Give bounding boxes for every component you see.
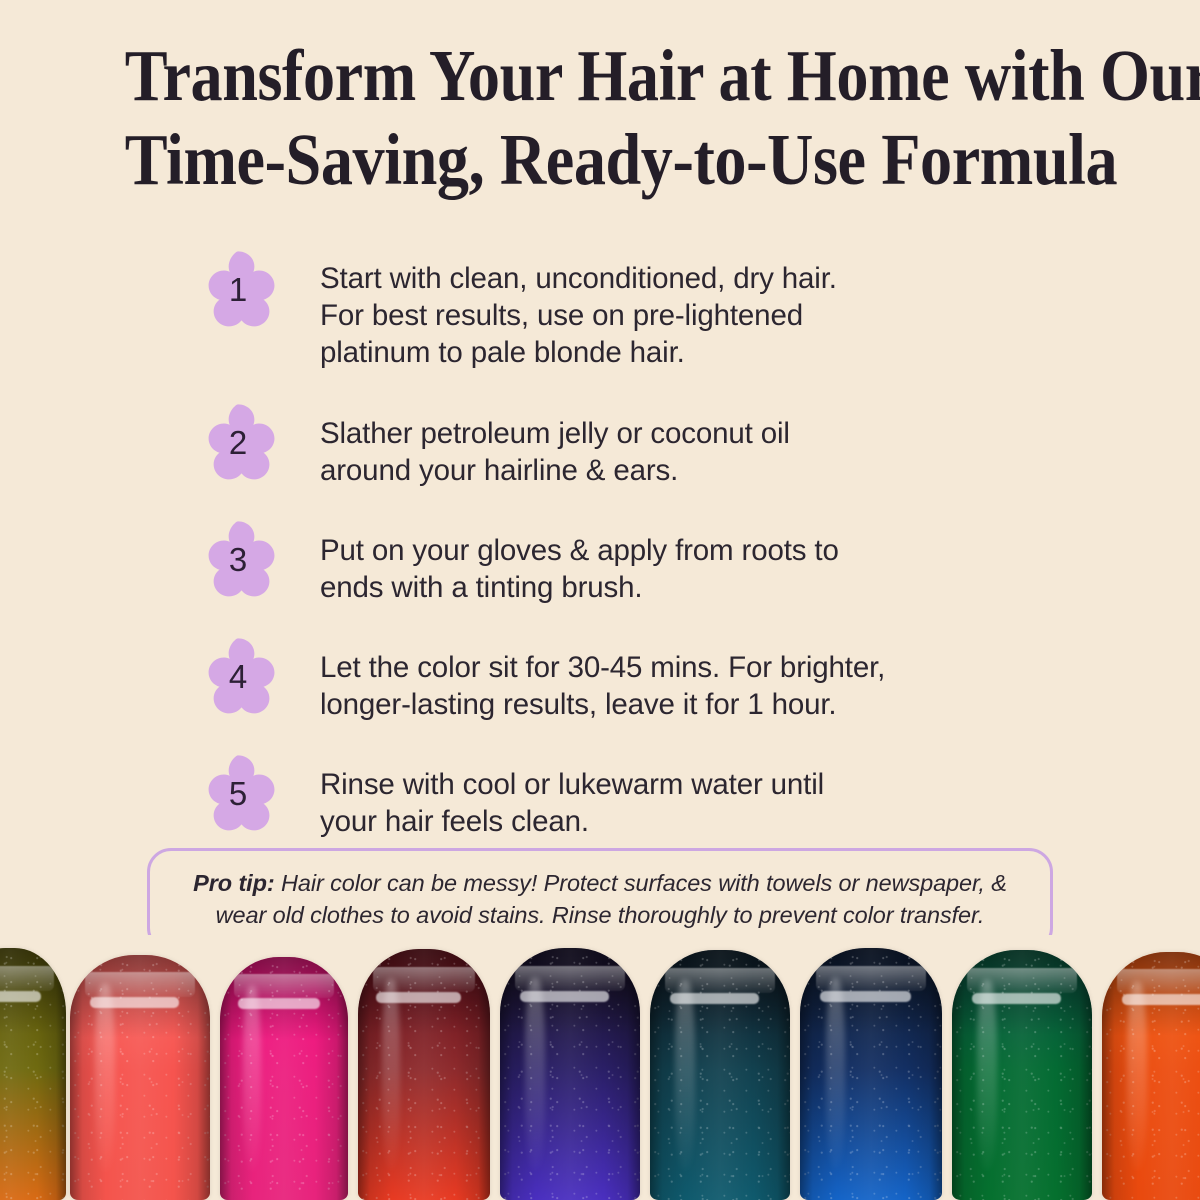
bottle-sheen <box>95 984 115 1170</box>
bottle-sheen <box>675 980 695 1170</box>
dark-red-bottle <box>358 949 490 1200</box>
bottle-cap <box>665 968 774 993</box>
bottle-cap2 <box>670 993 760 1004</box>
step-number-label: 4 <box>196 635 280 719</box>
bottle-sheen <box>977 980 997 1170</box>
bottle-cap <box>0 966 54 991</box>
violet-navy-bottle <box>500 948 640 1200</box>
bottle-cap2 <box>1122 994 1200 1005</box>
bottle-cap <box>515 966 624 991</box>
list-item: 2 Slather petroleum jelly or coconut oil… <box>196 401 1076 489</box>
bottle-cap2 <box>972 993 1062 1004</box>
list-item: 1 Start with clean, unconditioned, dry h… <box>196 248 1076 371</box>
step-text: Start with clean, unconditioned, dry hai… <box>320 248 1076 371</box>
step-number-badge-4: 4 <box>196 635 280 719</box>
steps-list: 1 Start with clean, unconditioned, dry h… <box>196 248 1076 840</box>
bottle-cap2 <box>90 997 180 1008</box>
page-title: Transform Your Hair at Home with Our Tim… <box>60 34 1140 202</box>
bottle-cap <box>1117 969 1200 994</box>
step-number-badge-1: 1 <box>196 248 280 332</box>
bottle-sheen <box>382 979 400 1170</box>
step-number-badge-5: 5 <box>196 752 280 836</box>
bottle-sheen <box>1127 982 1147 1170</box>
hot-pink-bottle <box>220 957 348 1200</box>
bottle-cap <box>816 966 927 991</box>
coral-red-bottle <box>70 955 210 1200</box>
orange-bottle <box>1102 952 1200 1200</box>
blue-bottle <box>800 948 942 1200</box>
bottle-cap <box>967 968 1076 993</box>
pro-tip-label: Pro tip: <box>193 870 274 896</box>
pro-tip-body: Hair color can be messy! Protect surface… <box>216 870 1007 928</box>
bottle-cap2 <box>520 991 610 1002</box>
step-number-label: 1 <box>196 248 280 332</box>
green-bottle <box>952 950 1092 1200</box>
page-title-line-2: Time-Saving, Ready-to-Use Formula <box>125 118 1075 202</box>
step-text: Let the color sit for 30-45 mins. For br… <box>320 635 1076 723</box>
olive-orange-bottle <box>0 948 66 1200</box>
step-text: Slather petroleum jelly or coconut oil a… <box>320 401 1076 489</box>
bottle-cap2 <box>376 992 461 1003</box>
infographic-page: Transform Your Hair at Home with Our Tim… <box>0 0 1200 1200</box>
step-text: Rinse with cool or lukewarm water until … <box>320 752 1076 840</box>
step-number-label: 3 <box>196 518 280 602</box>
list-item: 3 Put on your gloves & apply from roots … <box>196 518 1076 606</box>
bottle-cap <box>234 974 334 998</box>
list-item: 4 Let the color sit for 30-45 mins. For … <box>196 635 1076 723</box>
bottle-cap2 <box>0 991 41 1002</box>
bottle-cap2 <box>238 998 320 1009</box>
pro-tip-text: Pro tip: Hair color can be messy! Protec… <box>176 867 1024 931</box>
product-bottles-strip <box>0 935 1200 1200</box>
bottle-cap <box>85 972 194 997</box>
page-title-line-1: Transform Your Hair at Home with Our <box>125 34 1075 118</box>
bottle-cap2 <box>820 991 911 1002</box>
bottle-cap <box>373 967 476 992</box>
bottle-sheen <box>243 986 261 1171</box>
step-text: Put on your gloves & apply from roots to… <box>320 518 1076 606</box>
step-number-badge-2: 2 <box>196 401 280 485</box>
step-number-label: 5 <box>196 752 280 836</box>
teal-bottle <box>650 950 790 1200</box>
step-number-badge-3: 3 <box>196 518 280 602</box>
bottle-sheen <box>525 978 545 1170</box>
bottle-sheen <box>826 978 846 1170</box>
list-item: 5 Rinse with cool or lukewarm water unti… <box>196 752 1076 840</box>
step-number-label: 2 <box>196 401 280 485</box>
